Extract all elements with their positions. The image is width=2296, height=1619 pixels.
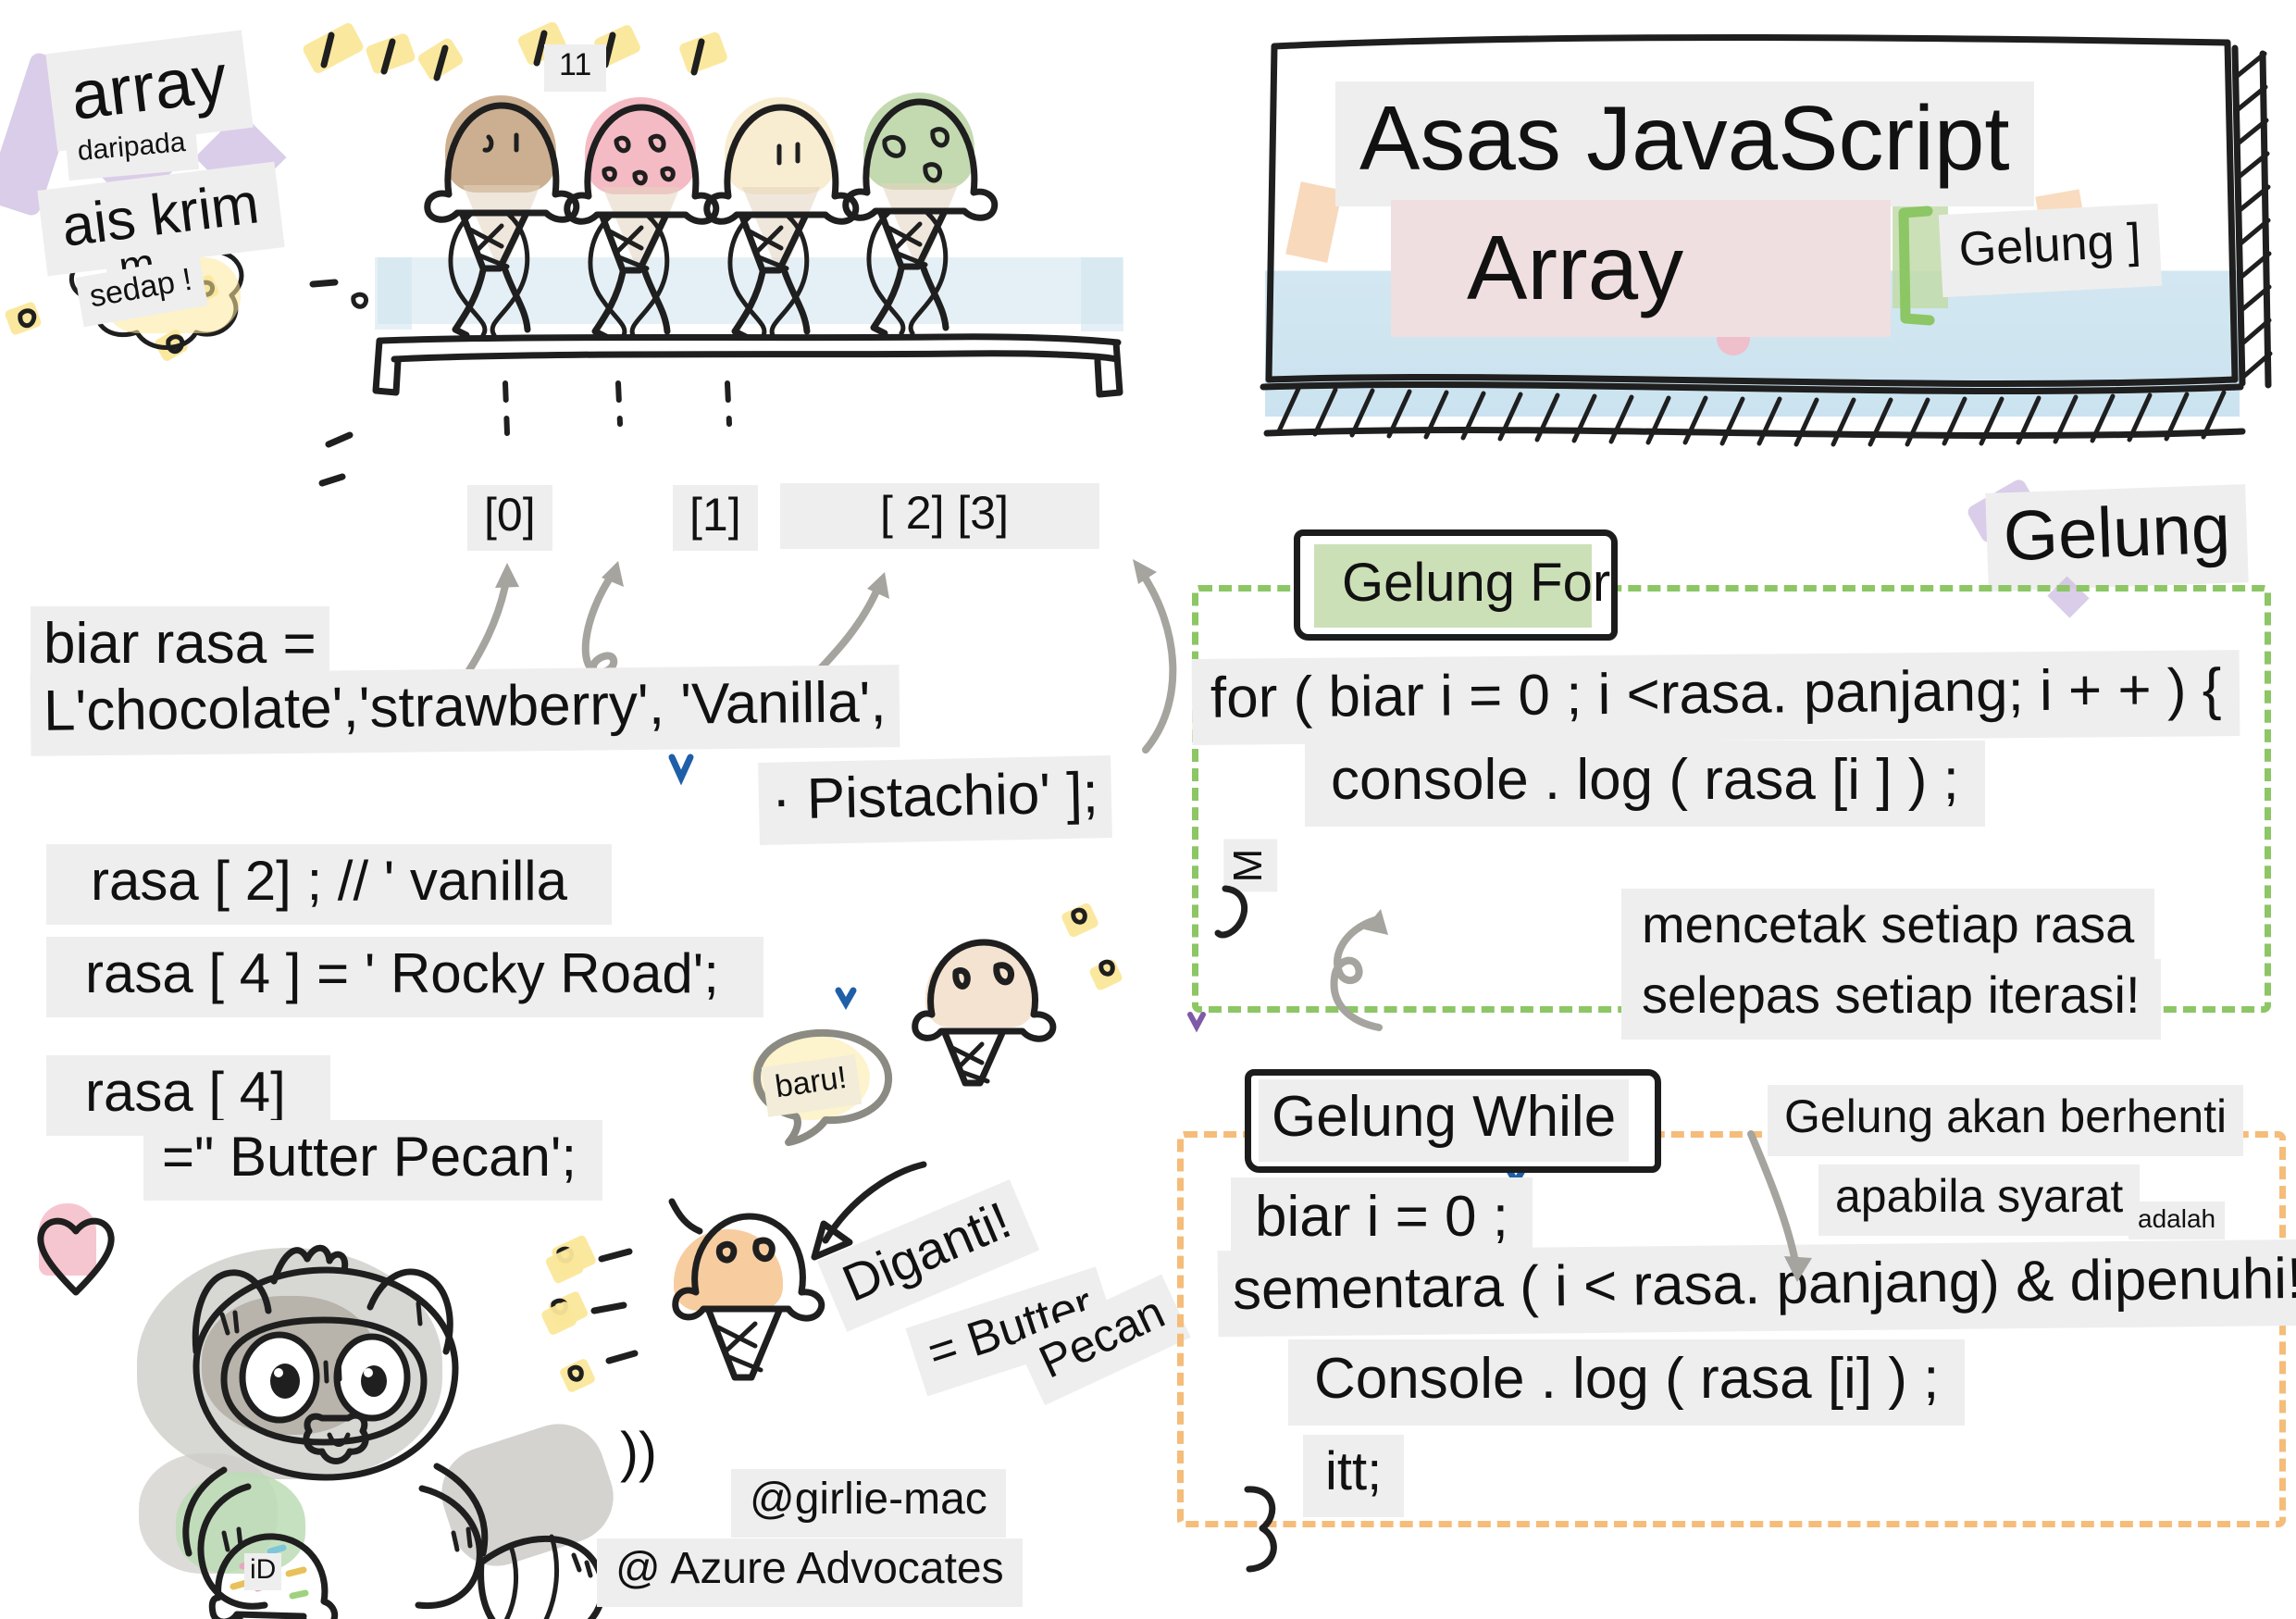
cone-fill-3 bbox=[742, 187, 820, 270]
cone-pistachio bbox=[846, 102, 995, 333]
index-leaders bbox=[370, 370, 1138, 444]
for-note-line-1: mencetak setiap rasa bbox=[1621, 889, 2154, 969]
while-note-line-3: adalah bbox=[2128, 1202, 2225, 1239]
credit-handle: @girlie-mac bbox=[731, 1469, 1006, 1538]
while-loop-label: Gelung While bbox=[1259, 1079, 1629, 1162]
shelf-wash bbox=[378, 257, 1123, 324]
melting-cone-bottom bbox=[648, 1194, 870, 1435]
for-note-line-2: selepas setiap iterasi! bbox=[1621, 959, 2161, 1040]
cone-sparkle-2 bbox=[1088, 958, 1123, 991]
melt-sparkle-2 bbox=[547, 1290, 589, 1329]
cone-strawberry bbox=[567, 107, 716, 337]
melt-sparkle-ticks bbox=[537, 1222, 685, 1407]
raccoon-sparkle-2 bbox=[540, 1301, 578, 1337]
heart-wash bbox=[39, 1203, 96, 1276]
yellow-confetti-2 bbox=[365, 32, 416, 75]
raccoon-mark-id: iD bbox=[244, 1553, 281, 1590]
sketchnote-canvas: array daripada ais krim m sedap ! 11 bbox=[0, 0, 2296, 1619]
sticker-daripada: daripada bbox=[65, 119, 199, 181]
raccoon-tail-wash bbox=[429, 1412, 625, 1577]
melting-cone-fill bbox=[925, 944, 1035, 1027]
cone-chocolate bbox=[428, 106, 577, 335]
title-line-1: Asas JavaScript bbox=[1335, 81, 2034, 206]
code-decl-line3: · Pistachio' ]; bbox=[758, 755, 1112, 845]
code-assign-line: rasa [ 4 ] = ' Rocky Road'; bbox=[46, 937, 763, 1017]
index-label-2-3: [ 2] [3] bbox=[780, 483, 1099, 549]
ice-cream-row bbox=[370, 74, 1138, 342]
index-label-0: [0] bbox=[467, 485, 552, 551]
scoop-fill-strawberry bbox=[585, 97, 696, 194]
raccoon-head-wash bbox=[137, 1248, 442, 1479]
yellow-confetti-6 bbox=[678, 31, 729, 75]
cone-sparkle-1 bbox=[1061, 902, 1100, 939]
cone-fill-1 bbox=[463, 185, 540, 268]
while-loop-line-4: itt; bbox=[1303, 1435, 1404, 1517]
yellow-confetti-8 bbox=[154, 328, 190, 363]
title-badge-gelung: Gelung ] bbox=[1939, 204, 2162, 297]
while-note-line-1: Gelung akan berhenti bbox=[1768, 1085, 2243, 1156]
raccoon-icecream-wash bbox=[176, 1472, 305, 1574]
scoop-fill-vanilla bbox=[725, 97, 836, 194]
for-loop-line-2: console . log ( rasa [i ] ) ; bbox=[1305, 741, 1985, 827]
raccoon-face-wash bbox=[202, 1296, 378, 1435]
title-card: Asas JavaScript Array Gelung ] bbox=[1254, 26, 2277, 461]
yellow-confetti-3 bbox=[416, 36, 465, 81]
for-loop-label: Gelung For bbox=[1333, 554, 1620, 617]
yellow-confetti-1 bbox=[302, 21, 366, 75]
for-loop-brace-mark: M bbox=[1223, 840, 1277, 892]
while-note-line-2: apabila syarat bbox=[1818, 1164, 2140, 1236]
melt-sparkle-3 bbox=[559, 1358, 597, 1394]
code-reassign-line2: =" Butter Pecan'; bbox=[143, 1120, 602, 1201]
section-heading-gelung: Gelung bbox=[1985, 484, 2249, 592]
paren-mark: )) bbox=[611, 1421, 666, 1487]
cone-fill-2 bbox=[602, 187, 680, 270]
cone-vanilla bbox=[707, 107, 856, 337]
melt-cone2-fill bbox=[674, 1229, 783, 1311]
scoop-fill-chocolate bbox=[445, 95, 556, 193]
melting-cone-top bbox=[912, 926, 1078, 1120]
for-loop-line-1: for ( biar i = 0 ; i <rasa. panjang; i +… bbox=[1192, 650, 2240, 745]
index-label-1: [1] bbox=[673, 485, 758, 551]
shelf-wash-left bbox=[375, 257, 412, 330]
melt-sparkle-1 bbox=[551, 1234, 598, 1278]
code-decl-line2: L'chocolate','strawberry', 'Vanilla', bbox=[31, 665, 900, 756]
code-access-line: rasa [ 2] ; // ' vanilla bbox=[46, 844, 612, 925]
bubble-baru-label: baru! bbox=[762, 1054, 862, 1116]
yellow-confetti-7 bbox=[4, 301, 43, 336]
while-loop-line-2: sementara ( i < rasa. panjang) & dipenuh… bbox=[1218, 1239, 2296, 1338]
while-loop-line-3: Console . log ( rasa [i] ) ; bbox=[1288, 1339, 1965, 1426]
corner-number: 11 bbox=[544, 44, 606, 92]
heart-icon bbox=[28, 1203, 130, 1314]
cone-sparkle-ticks bbox=[1046, 889, 1157, 1009]
credit-org: @ Azure Advocates bbox=[597, 1538, 1023, 1607]
thought-cloud-dots bbox=[305, 273, 389, 338]
cone-fill-4 bbox=[881, 183, 959, 267]
shelf-wash-right bbox=[1081, 257, 1123, 331]
raccoon-illustration bbox=[93, 1222, 611, 1619]
raccoon-sparkle-1 bbox=[544, 1246, 584, 1285]
title-line-2: Array bbox=[1458, 218, 1693, 321]
scoop-fill-pistachio bbox=[863, 93, 974, 190]
